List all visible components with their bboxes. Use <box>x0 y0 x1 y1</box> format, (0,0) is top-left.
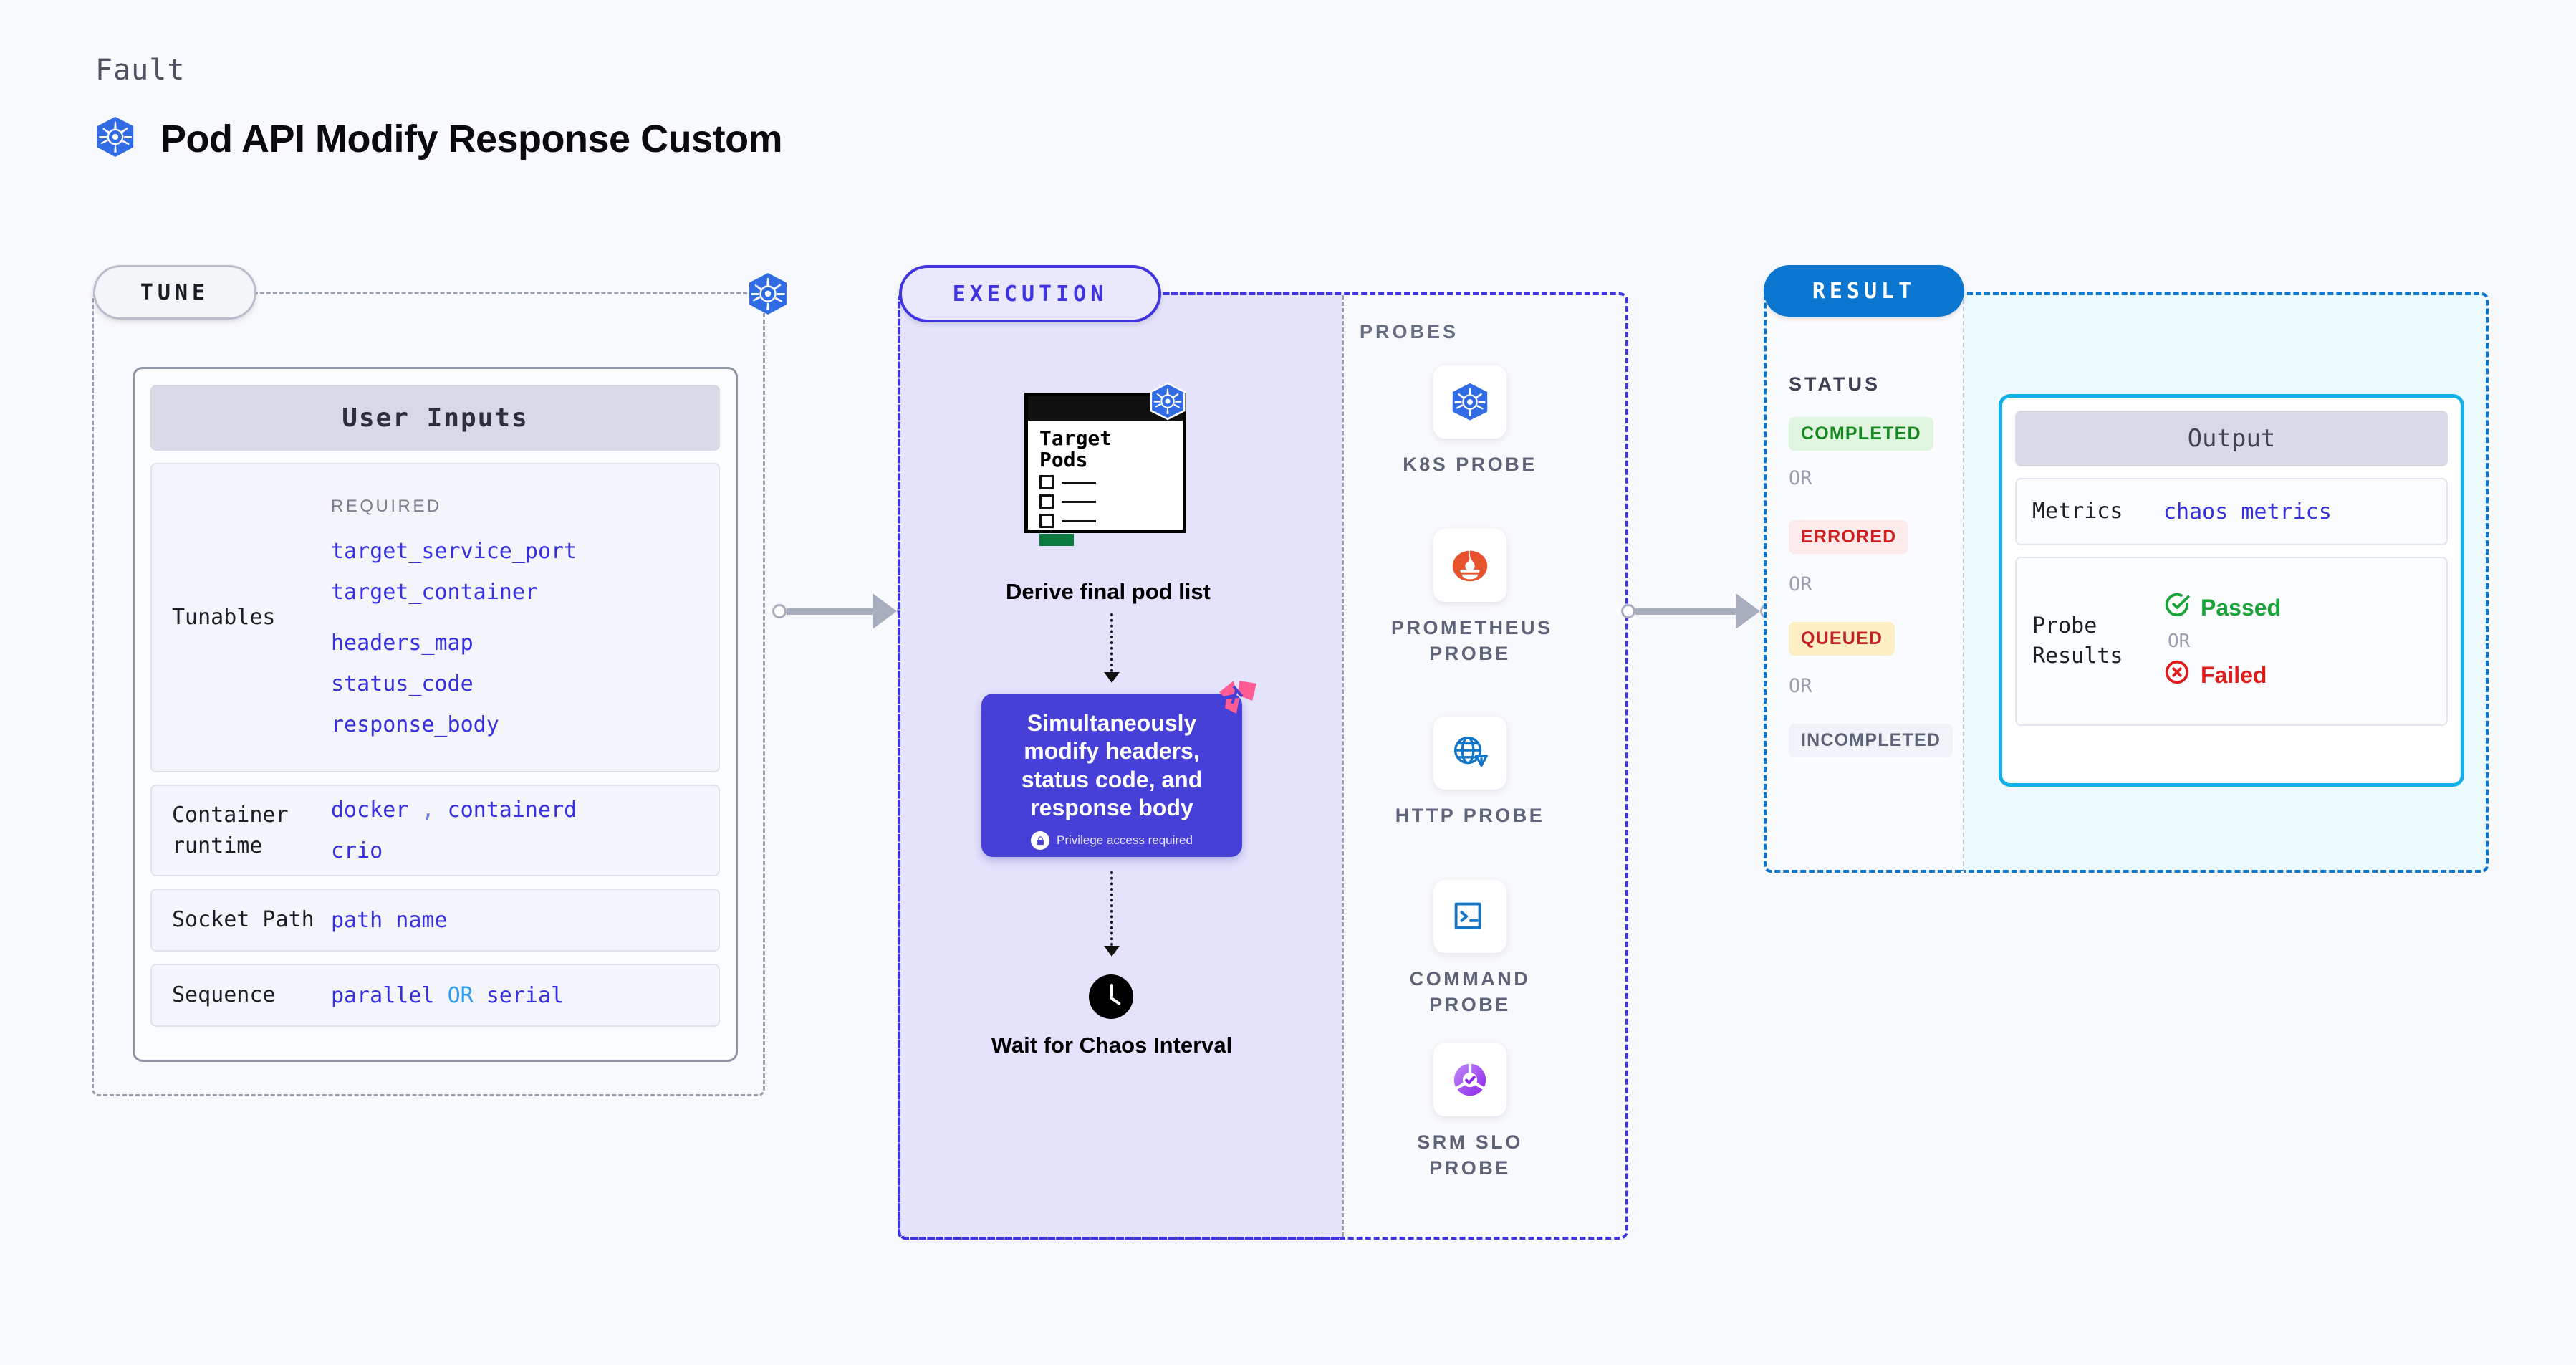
checkbox-icon <box>1039 475 1054 489</box>
kubernetes-icon <box>745 271 791 317</box>
flow-connector <box>1110 871 1113 946</box>
action-text: Simultaneously modify headers, status co… <box>996 709 1228 822</box>
privilege-note: Privilege access required <box>996 831 1228 850</box>
status-or: OR <box>1789 467 1812 489</box>
connector-arrowhead <box>873 593 897 629</box>
srm-slo-icon <box>1433 1043 1506 1116</box>
checklist-item <box>1039 514 1096 528</box>
derive-pod-list-label: Derive final pod list <box>964 579 1252 605</box>
page-kicker: Fault <box>95 54 185 87</box>
probe-item-http[interactable]: HTTP PROBE <box>1391 717 1549 828</box>
runtime-value: containerd <box>448 798 577 823</box>
terminal-icon <box>1433 880 1506 953</box>
kubernetes-icon <box>93 115 138 163</box>
output-title: Output <box>2015 411 2448 466</box>
sequence-row: Sequence parallel OR serial <box>150 964 720 1027</box>
probe-results-values: Passed OR Failed <box>2163 591 2281 691</box>
sequence-label: Sequence <box>152 980 331 1011</box>
metrics-label: Metrics <box>2017 497 2163 527</box>
checklist-item <box>1039 494 1096 509</box>
execution-pill[interactable]: EXECUTION <box>899 265 1161 322</box>
checklist-item <box>1039 475 1096 489</box>
socket-path-value: path name <box>331 900 448 941</box>
status-badge-completed: COMPLETED <box>1789 417 1933 451</box>
status-label: STATUS <box>1789 373 1880 396</box>
runtime-separator: , <box>421 798 434 823</box>
flow-arrowhead <box>1104 672 1120 683</box>
probe-result-passed: Passed <box>2163 591 2281 624</box>
user-inputs-card: User Inputs Tunables REQUIRED target_ser… <box>133 367 738 1062</box>
connector-execution-to-result <box>1621 593 1774 629</box>
connector-tune-to-execution <box>772 593 911 629</box>
result-pill[interactable]: RESULT <box>1764 265 1964 317</box>
progress-bar <box>1039 534 1074 546</box>
list-line <box>1062 501 1096 503</box>
probe-results-label: Probe Results <box>2017 611 2163 671</box>
tunable-value: headers_map <box>331 623 577 664</box>
target-pods-card: Target Pods <box>1024 381 1192 533</box>
metrics-value: chaos metrics <box>2163 499 2332 525</box>
status-badge-incompleted: INCOMPLETED <box>1789 724 1953 757</box>
harness-chaos-icon <box>1218 679 1258 717</box>
tunable-value: target_container <box>331 572 577 613</box>
output-card: Output Metrics chaos metrics Probe Resul… <box>1999 394 2464 787</box>
metrics-row: Metrics chaos metrics <box>2015 478 2448 545</box>
status-badge-queued: QUEUED <box>1789 622 1895 656</box>
flow-connector <box>1110 613 1113 672</box>
connector-dot <box>1621 604 1635 618</box>
probe-label: SRM SLO PROBE <box>1391 1129 1549 1182</box>
lock-icon <box>1031 831 1049 850</box>
page-header: Pod API Modify Response Custom <box>93 115 782 163</box>
sequence-option-b: serial <box>486 983 564 1008</box>
tunable-value: target_service_port <box>331 531 577 572</box>
list-line <box>1062 482 1096 484</box>
probe-result-failed: Failed <box>2163 658 2281 691</box>
probe-item-prometheus[interactable]: PROMETHEUS PROBE <box>1391 529 1549 667</box>
socket-path-label: Socket Path <box>152 904 331 936</box>
container-runtime-label: Container runtime <box>152 800 331 862</box>
action-node: Simultaneously modify headers, status co… <box>981 694 1242 857</box>
privilege-note-text: Privilege access required <box>1057 833 1193 848</box>
passed-label: Passed <box>2201 595 2281 621</box>
required-label: REQUIRED <box>331 490 577 523</box>
probe-item-command[interactable]: COMMAND PROBE <box>1391 880 1549 1018</box>
x-circle-icon <box>2163 658 2191 691</box>
container-runtime-values: docker , containerd crio <box>331 790 577 871</box>
tune-pill[interactable]: TUNE <box>93 265 256 320</box>
page-title: Pod API Modify Response Custom <box>160 117 782 161</box>
status-or: OR <box>1789 573 1812 595</box>
target-pods-title-line1: Target <box>1039 428 1112 449</box>
probe-item-k8s[interactable]: K8S PROBE <box>1391 365 1549 477</box>
sequence-value: parallel OR serial <box>331 975 564 1016</box>
probe-item-srm-slo[interactable]: SRM SLO PROBE <box>1391 1043 1549 1182</box>
user-inputs-title: User Inputs <box>150 385 720 451</box>
checkbox-icon <box>1039 514 1054 528</box>
tunable-value: response_body <box>331 704 577 745</box>
sequence-option-a: parallel <box>331 983 435 1008</box>
flow-arrowhead <box>1104 946 1120 957</box>
kubernetes-icon <box>1433 365 1506 439</box>
tunables-values: REQUIRED target_service_port target_cont… <box>331 490 577 746</box>
list-line <box>1062 520 1096 522</box>
connector-arrowhead <box>1736 593 1760 629</box>
target-pods-title: Target Pods <box>1039 428 1112 471</box>
probe-label: HTTP PROBE <box>1391 803 1549 828</box>
checkbox-icon <box>1039 494 1054 509</box>
connector-dot <box>772 604 787 618</box>
probe-label: PROMETHEUS PROBE <box>1391 615 1549 667</box>
target-pods-title-line2: Pods <box>1039 449 1112 471</box>
check-circle-icon <box>2163 591 2191 624</box>
tunables-label: Tunables <box>152 602 331 633</box>
prometheus-icon <box>1433 529 1506 602</box>
kubernetes-icon <box>1148 381 1188 421</box>
clock-icon <box>1089 974 1133 1019</box>
probe-result-or: OR <box>2168 631 2281 652</box>
probe-label: COMMAND PROBE <box>1391 966 1549 1018</box>
probe-results-row: Probe Results Passed OR Failed <box>2015 557 2448 726</box>
probes-label: PROBES <box>1360 321 1458 343</box>
container-runtime-row: Container runtime docker , containerd cr… <box>150 785 720 876</box>
socket-path-row: Socket Path path name <box>150 889 720 952</box>
connector-line <box>1635 608 1736 615</box>
sequence-or: OR <box>448 983 474 1008</box>
tunable-value: status_code <box>331 664 577 704</box>
status-or: OR <box>1789 675 1812 697</box>
tunables-row: Tunables REQUIRED target_service_port ta… <box>150 463 720 772</box>
status-badge-errored: ERRORED <box>1789 520 1908 554</box>
http-globe-warning-icon <box>1433 717 1506 790</box>
connector-line <box>787 608 873 615</box>
runtime-value: docker <box>331 798 408 823</box>
probe-label: K8S PROBE <box>1391 451 1549 477</box>
failed-label: Failed <box>2201 662 2267 689</box>
probes-divider <box>1342 295 1344 1237</box>
wait-for-chaos-interval-label: Wait for Chaos Interval <box>981 1032 1242 1058</box>
runtime-value: crio <box>331 830 577 871</box>
